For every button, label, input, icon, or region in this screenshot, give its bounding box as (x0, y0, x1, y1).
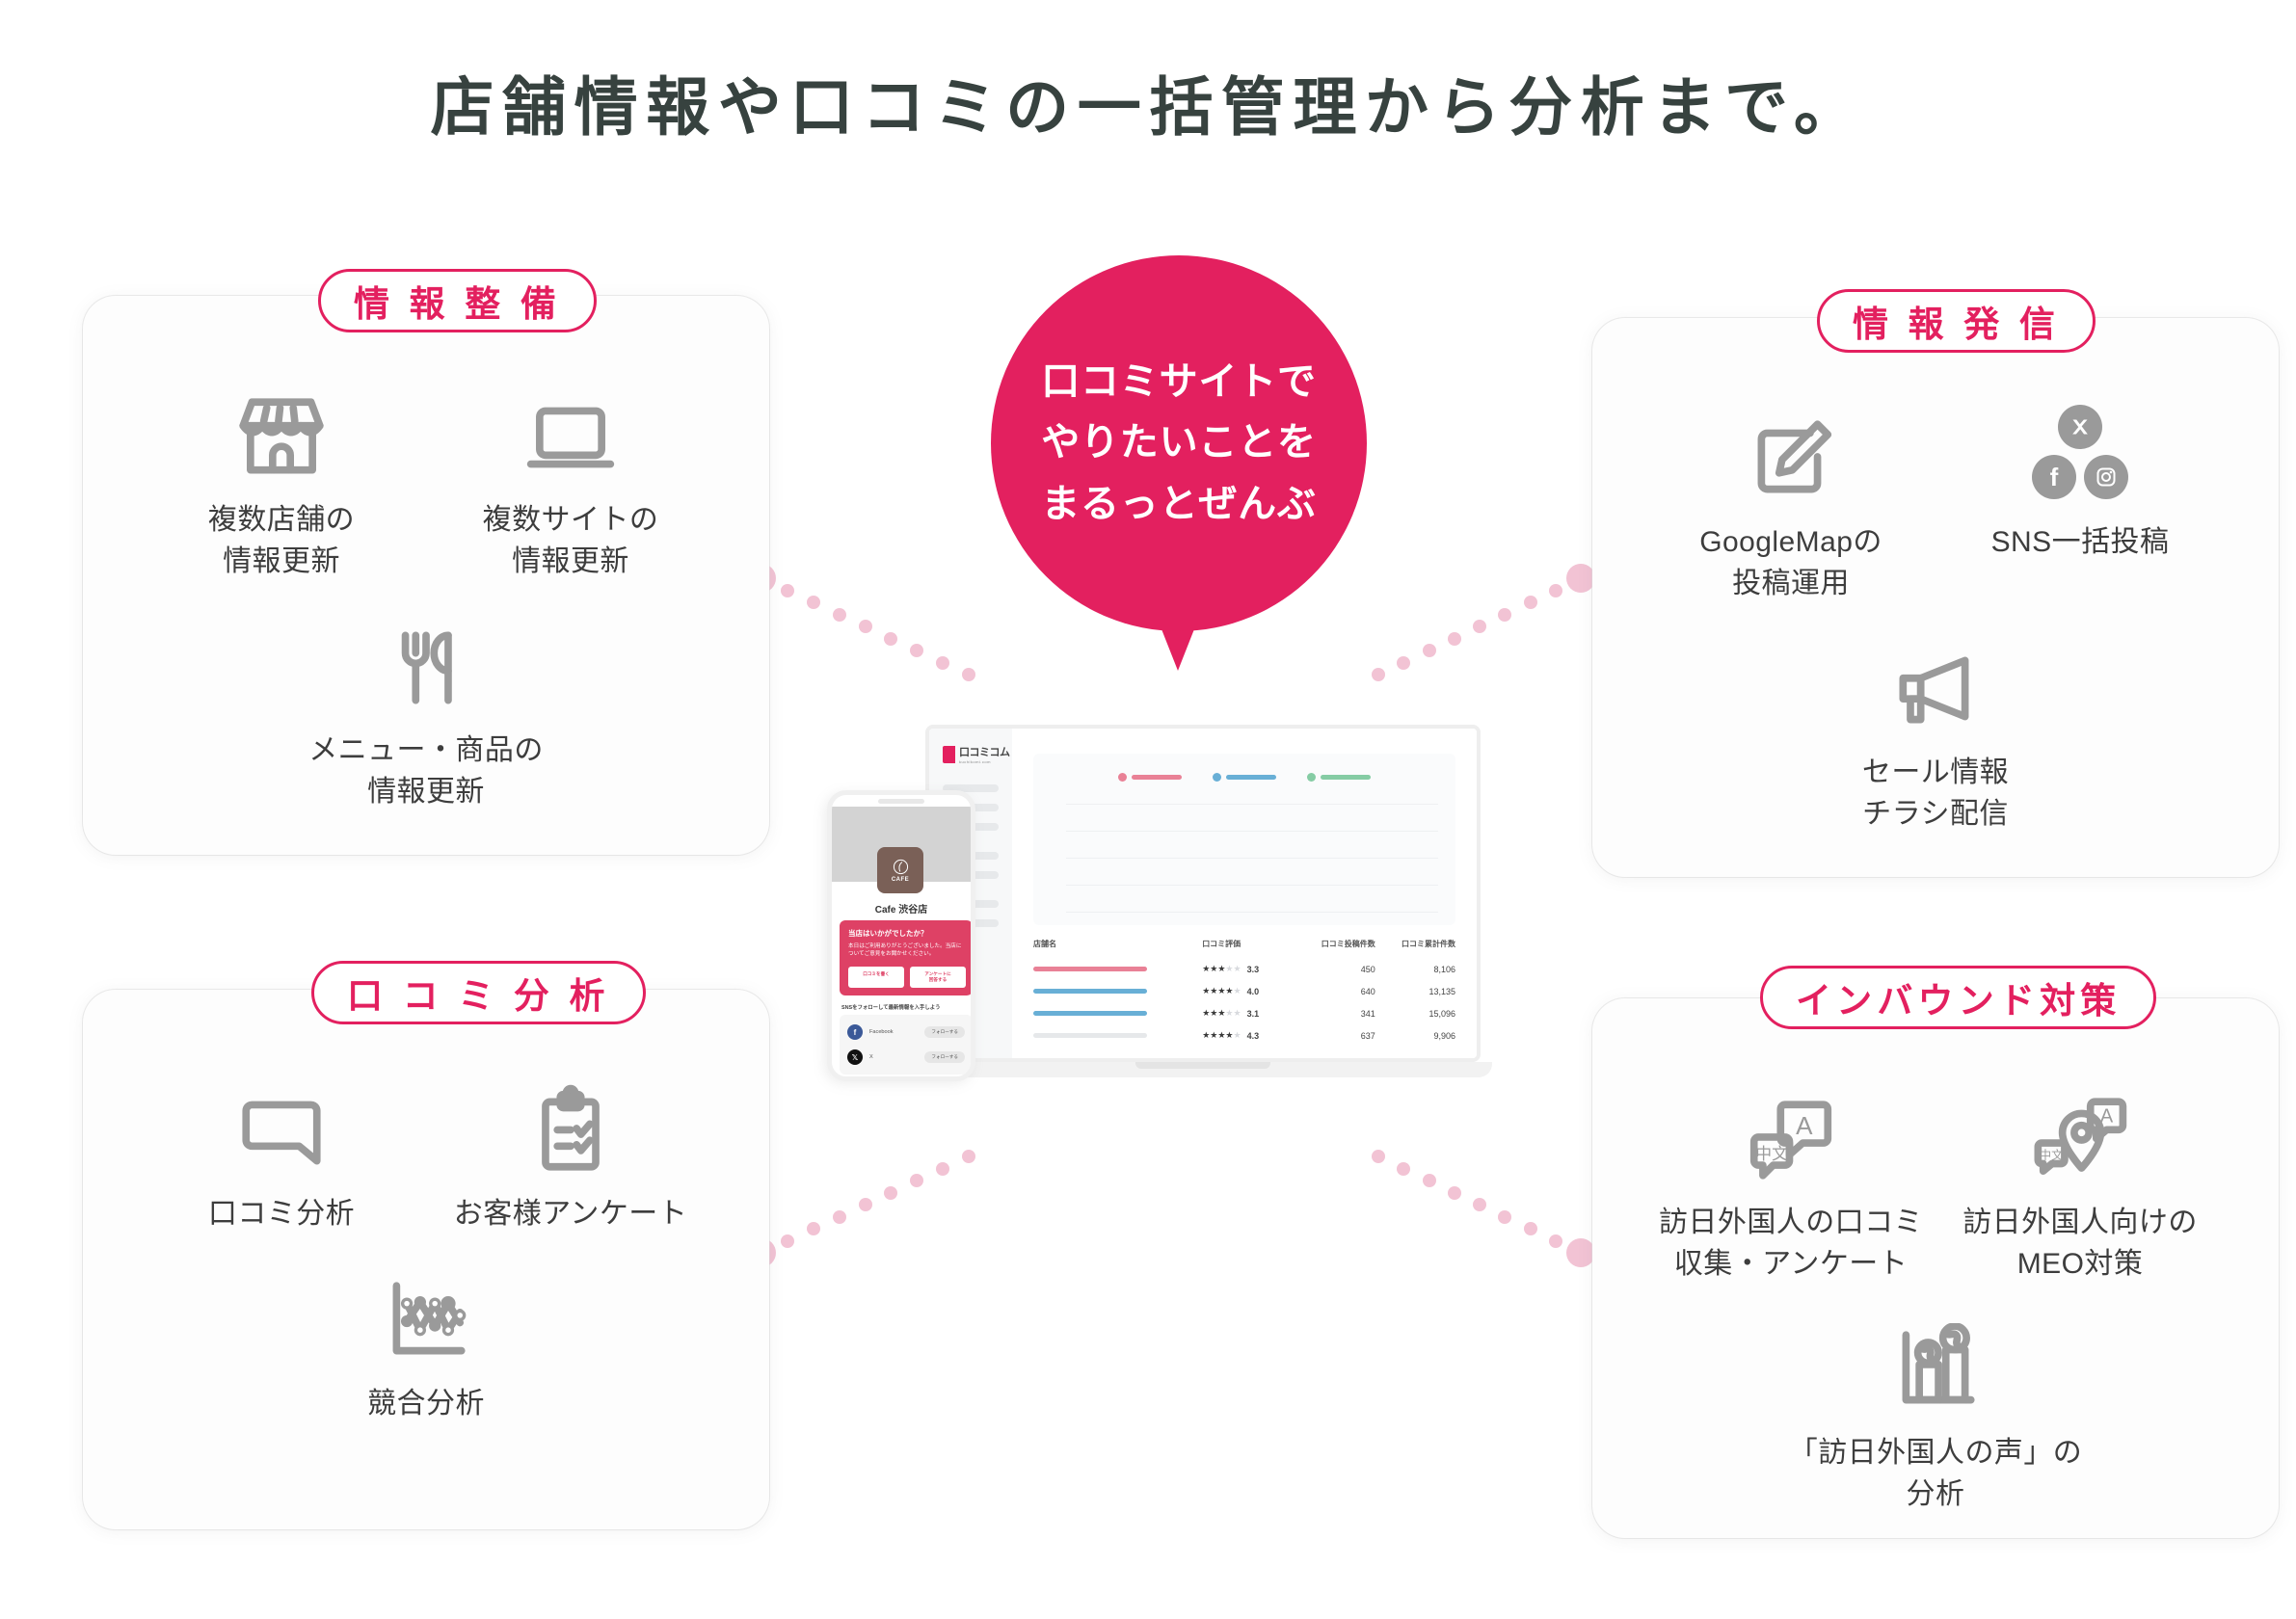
connector-dot (936, 656, 949, 670)
feature-foreign-voice-analysis: 「訪日外国人の声」の 分析 (1592, 1310, 2279, 1515)
table-header-rating: 口コミ評価 (1202, 939, 1299, 949)
feature-competitor-analysis: 競合分析 (83, 1261, 769, 1425)
storefront-icon (234, 377, 329, 485)
star-rating: ★★★★★ (1202, 964, 1241, 974)
connector-dot (1498, 1210, 1511, 1224)
feature-label: 「訪日外国人の声」の 分析 (1789, 1433, 2083, 1515)
connector-dot (884, 1186, 897, 1200)
rating-cell: ★★★★★3.1 (1202, 1008, 1299, 1019)
connector-dot (1448, 632, 1461, 646)
badge-inbound-measures: インバウンド対策 (1760, 966, 2156, 1029)
connector-dot (1566, 564, 1595, 593)
connector-dot (833, 608, 846, 622)
sns-follow-row[interactable]: fFacebookフォローする (840, 1020, 973, 1045)
table-header-row: 店舗名 口コミ評価 口コミ投稿件数 口コミ累計件数 (1033, 939, 1455, 958)
dashboard-main: 店舗名 口コミ評価 口コミ投稿件数 口コミ累計件数 ★★★★★3.34508,1… (1012, 729, 1477, 1058)
store-name-bar (1033, 967, 1202, 971)
total-count: 13,135 (1375, 987, 1455, 996)
feature-sns-bulk-post: f SNS一括投稿 (1936, 399, 2225, 604)
feature-foreign-visitor-reviews: A 中文 訪日外国人の口コミ 収集・アンケート (1646, 1079, 1936, 1285)
star-rating: ★★★★★ (1202, 1008, 1241, 1019)
clipboard-check-icon (523, 1071, 618, 1179)
connector-dot (1473, 1198, 1486, 1211)
card-inbound-measures: A 中文 訪日外国人の口コミ 収集・アンケート A 中文 (1592, 998, 2279, 1538)
connector-dot (1549, 584, 1562, 597)
feature-review-analysis: 口コミ分析 (137, 1071, 426, 1235)
sns-follow-title: SNSをフォローして最新情報を入手しよう (841, 1003, 941, 1011)
laptop-icon (523, 377, 618, 485)
connector-dot (1423, 1174, 1436, 1187)
connector-dot (833, 1210, 846, 1224)
connector-dot (1448, 1186, 1461, 1200)
document-pencil-icon (1744, 399, 1838, 507)
cafe-logo: CAFE (877, 847, 923, 893)
feature-googlemap-posting: GoogleMapの 投稿運用 (1646, 399, 1936, 604)
x-icon (2058, 405, 2102, 449)
feature-label: 訪日外国人の口コミ 収集・アンケート (1659, 1203, 1923, 1285)
feature-multi-store-update: 複数店舗の 情報更新 (137, 377, 426, 582)
post-count: 341 (1299, 1009, 1375, 1019)
legend-bar (1132, 775, 1182, 780)
connector-dot (1372, 668, 1385, 681)
feature-sale-flyer-distribution: セール情報 チラシ配信 (1592, 629, 2279, 835)
survey-prompt-card: 当店はいかがでしたか？ 本日はご利用ありがとうございました。当店についてご意見を… (840, 920, 973, 995)
review-bar-chart (1033, 754, 1455, 925)
sns-name: Facebook (869, 1029, 924, 1035)
post-count: 640 (1299, 987, 1375, 996)
write-review-button[interactable]: 口コミを書く (848, 967, 904, 988)
connector-dot (884, 632, 897, 646)
follow-button[interactable]: フォローする (924, 1026, 965, 1038)
follow-button[interactable]: フォローする (924, 1051, 965, 1063)
legend-dot (1213, 773, 1221, 782)
star-rating: ★★★★★ (1202, 1030, 1241, 1041)
rating-value: 4.3 (1247, 1031, 1260, 1041)
connector-dot (781, 1234, 794, 1248)
store-name-bar (1033, 1033, 1202, 1038)
scatter-chart-icon (379, 1261, 473, 1368)
post-count: 637 (1299, 1031, 1375, 1041)
rating-cell: ★★★★★4.3 (1202, 1030, 1299, 1041)
connector-dot (936, 1162, 949, 1176)
card-review-analysis: 口コミ分析 お客様アンケート (83, 990, 769, 1529)
badge-information-maintenance: 情 報 整 備 (318, 269, 597, 332)
connector-dot (1372, 1150, 1385, 1163)
card-information-maintenance: 複数店舗の 情報更新 複数サイトの 情報更新 (83, 296, 769, 855)
feature-label: SNS一括投稿 (1991, 522, 2170, 564)
connector-dot (1397, 1162, 1410, 1176)
instagram-icon (2084, 455, 2128, 499)
rating-cell: ★★★★★4.0 (1202, 986, 1299, 996)
connector-dot (962, 1150, 975, 1163)
feature-meo-for-foreign-visitors: A 中文 訪日外国人向けの MEO対策 (1936, 1079, 2225, 1285)
legend-item (1213, 773, 1276, 782)
chart-bars (1066, 804, 1438, 912)
connector-dot (807, 596, 820, 609)
feature-label: GoogleMapの 投稿運用 (1699, 522, 1882, 604)
phone-mockup: CAFE Cafe 渋谷店 当店はいかがでしたか？ 本日はご利用ありがとうござい… (827, 790, 975, 1081)
page-title: 店舗情報や口コミの一括管理から分析まで。 (0, 56, 2296, 148)
answer-survey-button[interactable]: アンケートに 回答する (910, 967, 966, 988)
chart-plot (1066, 804, 1438, 912)
cutlery-icon (379, 607, 473, 715)
laptop-notch (1135, 1062, 1270, 1069)
table-header-posts: 口コミ投稿件数 (1299, 939, 1375, 949)
phone-notch (878, 799, 924, 804)
survey-body: 本日はご利用ありがとうございました。当店についてご意見をお聞かせください。 (848, 942, 964, 959)
sns-follow-row[interactable]: 𝕏Xフォローする (840, 1045, 973, 1070)
connector-dot (1498, 608, 1511, 622)
svg-text:A: A (1796, 1111, 1813, 1140)
store-name-bar (1033, 989, 1202, 994)
feature-label: メニュー・商品の 情報更新 (308, 730, 544, 812)
laptop-mockup: 口コミコム kuchikomi.com (914, 725, 1531, 1102)
rating-value: 3.3 (1247, 965, 1260, 974)
feature-label: 口コミ分析 (208, 1194, 355, 1235)
sns-name: X (869, 1054, 924, 1060)
legend-bar (1321, 775, 1371, 780)
total-count: 9,906 (1375, 1031, 1455, 1041)
feature-label: お客様アンケート (454, 1194, 687, 1235)
feature-multi-site-update: 複数サイトの 情報更新 (426, 377, 715, 582)
connector-dot (859, 620, 872, 633)
megaphone-icon (1888, 629, 1983, 737)
feature-label: 競合分析 (367, 1384, 485, 1425)
speech-bubble-icon (234, 1071, 329, 1179)
total-count: 8,106 (1375, 965, 1455, 974)
feature-label: 複数店舗の 情報更新 (208, 500, 355, 582)
connector-dot (1524, 1222, 1537, 1235)
card-information-distribution: GoogleMapの 投稿運用 f (1592, 318, 2279, 877)
table-row[interactable]: ★★★★★3.134115,096 (1033, 1002, 1455, 1024)
badge-review-analysis: 口 コ ミ 分 析 (311, 961, 646, 1024)
star-rating: ★★★★★ (1202, 986, 1241, 996)
svg-text:中文: 中文 (1755, 1145, 1788, 1163)
table-header-store: 店舗名 (1033, 939, 1202, 949)
connector-dot (1566, 1238, 1595, 1267)
store-name: Cafe 渋谷店 (832, 901, 971, 916)
table-header-total: 口コミ累計件数 (1375, 939, 1455, 949)
connector-dot (1549, 1234, 1562, 1248)
connector-dot (1473, 620, 1486, 633)
logo-text: 口コミコム (959, 744, 1010, 759)
legend-item (1118, 773, 1182, 782)
global-bar-chart-icon (1888, 1310, 1983, 1418)
center-bubble: 口コミサイトで やりたいことを まるっとぜんぶ (991, 255, 1367, 631)
chart-legend (1033, 773, 1455, 782)
facebook-icon: f (2032, 455, 2076, 499)
connector-dot (1524, 596, 1537, 609)
svg-text:中文: 中文 (2040, 1148, 2064, 1162)
connector-dot (910, 644, 923, 657)
laptop-screen: 口コミコム kuchikomi.com (925, 725, 1481, 1062)
table-row[interactable]: ★★★★★3.34508,106 (1033, 958, 1455, 980)
map-pin-translate-icon: A 中文 (2033, 1079, 2127, 1187)
cafe-logo-text: CAFE (892, 877, 909, 883)
store-name-bar (1033, 1011, 1202, 1016)
logo-mark (943, 746, 955, 763)
legend-dot (1118, 773, 1127, 782)
facebook-icon: f (847, 1024, 863, 1040)
table-row[interactable]: ★★★★★4.36379,906 (1033, 1024, 1455, 1047)
connector-dot (807, 1222, 820, 1235)
center-bubble-text: 口コミサイトで やりたいことを まるっとぜんぶ (1041, 352, 1317, 535)
legend-dot (1307, 773, 1316, 782)
badge-information-distribution: 情 報 発 信 (1817, 289, 2096, 353)
logo-subtext: kuchikomi.com (959, 759, 1010, 764)
rating-cell: ★★★★★3.3 (1202, 964, 1299, 974)
table-row[interactable]: ★★★★★4.064013,135 (1033, 980, 1455, 1002)
feature-label: セール情報 チラシ配信 (1862, 753, 2009, 835)
feature-menu-product-update: メニュー・商品の 情報更新 (83, 607, 769, 812)
connector-dot (781, 584, 794, 597)
sns-icons: f (1993, 399, 2167, 507)
app-logo: 口コミコム kuchikomi.com (943, 744, 1010, 764)
translate-bubble-icon: A 中文 (1744, 1079, 1838, 1187)
connector-dot (1423, 644, 1436, 657)
survey-title: 当店はいかがでしたか？ (848, 928, 964, 939)
connector-dot (962, 668, 975, 681)
rating-value: 4.0 (1247, 987, 1260, 996)
rating-value: 3.1 (1247, 1009, 1260, 1019)
x-icon: 𝕏 (847, 1049, 863, 1065)
post-count: 450 (1299, 965, 1375, 974)
connector-dot (1397, 656, 1410, 670)
sns-follow-list: fFacebookフォローする𝕏Xフォローする (840, 1015, 973, 1075)
feature-label: 複数サイトの 情報更新 (483, 500, 659, 582)
legend-bar (1226, 775, 1276, 780)
legend-item (1307, 773, 1371, 782)
store-review-table: 店舗名 口コミ評価 口コミ投稿件数 口コミ累計件数 ★★★★★3.34508,1… (1033, 939, 1455, 1047)
feature-customer-survey: お客様アンケート (426, 1071, 715, 1235)
connector-dot (859, 1198, 872, 1211)
connector-dot (910, 1174, 923, 1187)
feature-label: 訪日外国人向けの MEO対策 (1962, 1203, 2198, 1285)
total-count: 15,096 (1375, 1009, 1455, 1019)
